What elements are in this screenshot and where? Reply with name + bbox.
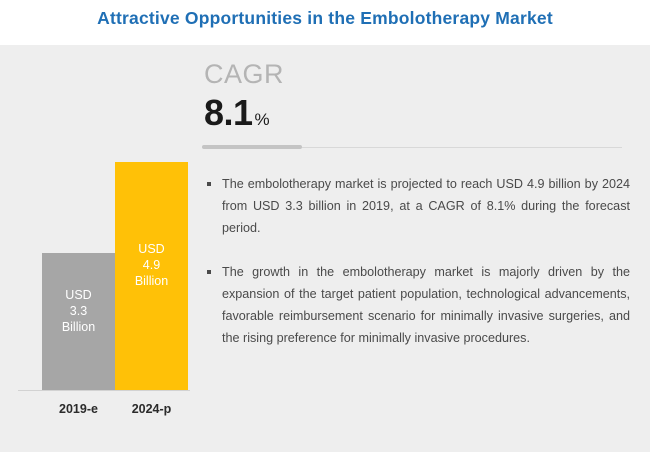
cagr-label: CAGR <box>204 59 284 90</box>
bullet-list: The embolotherapy market is projected to… <box>206 173 630 349</box>
section-divider <box>202 145 622 149</box>
cagr-value: 8.1 <box>204 92 253 134</box>
bar-label-line-1: USD <box>115 241 188 257</box>
page-title: Attractive Opportunities in the Emboloth… <box>0 8 650 29</box>
bar-label-line-1: USD <box>42 287 115 303</box>
list-item-text: The embolotherapy market is projected to… <box>222 177 630 235</box>
square-bullet-icon <box>207 182 211 186</box>
square-bullet-icon <box>207 270 211 274</box>
title-band: Attractive Opportunities in the Emboloth… <box>0 0 650 45</box>
body-panel: USD 3.3 Billion USD 4.9 Billion 2019-e 2… <box>0 45 650 452</box>
bar-chart: USD 3.3 Billion USD 4.9 Billion 2019-e 2… <box>0 45 200 452</box>
x-axis-line <box>18 390 190 391</box>
content-area: CAGR 8.1 % The embolotherapy market is p… <box>200 45 650 452</box>
list-item: The growth in the embolotherapy market i… <box>206 261 630 349</box>
x-axis-tick-2024-p: 2024-p <box>115 402 188 416</box>
bar-2024-p: USD 4.9 Billion <box>115 162 188 390</box>
bar-label-line-3: Billion <box>115 273 188 289</box>
infographic-root: Attractive Opportunities in the Emboloth… <box>0 0 650 452</box>
bar-label-line-3: Billion <box>42 319 115 335</box>
divider-accent-segment <box>202 145 302 149</box>
bar-label-line-2: 3.3 <box>42 303 115 319</box>
list-item-text: The growth in the embolotherapy market i… <box>222 265 630 345</box>
x-axis-tick-2019-e: 2019-e <box>42 402 115 416</box>
bar-value-label-2019-e: USD 3.3 Billion <box>42 287 115 335</box>
bar-2019-e: USD 3.3 Billion <box>42 253 115 390</box>
bar-value-label-2024-p: USD 4.9 Billion <box>115 241 188 289</box>
cagr-unit: % <box>255 110 270 130</box>
cagr-value-row: 8.1 % <box>204 92 270 134</box>
list-item: The embolotherapy market is projected to… <box>206 173 630 239</box>
bar-label-line-2: 4.9 <box>115 257 188 273</box>
